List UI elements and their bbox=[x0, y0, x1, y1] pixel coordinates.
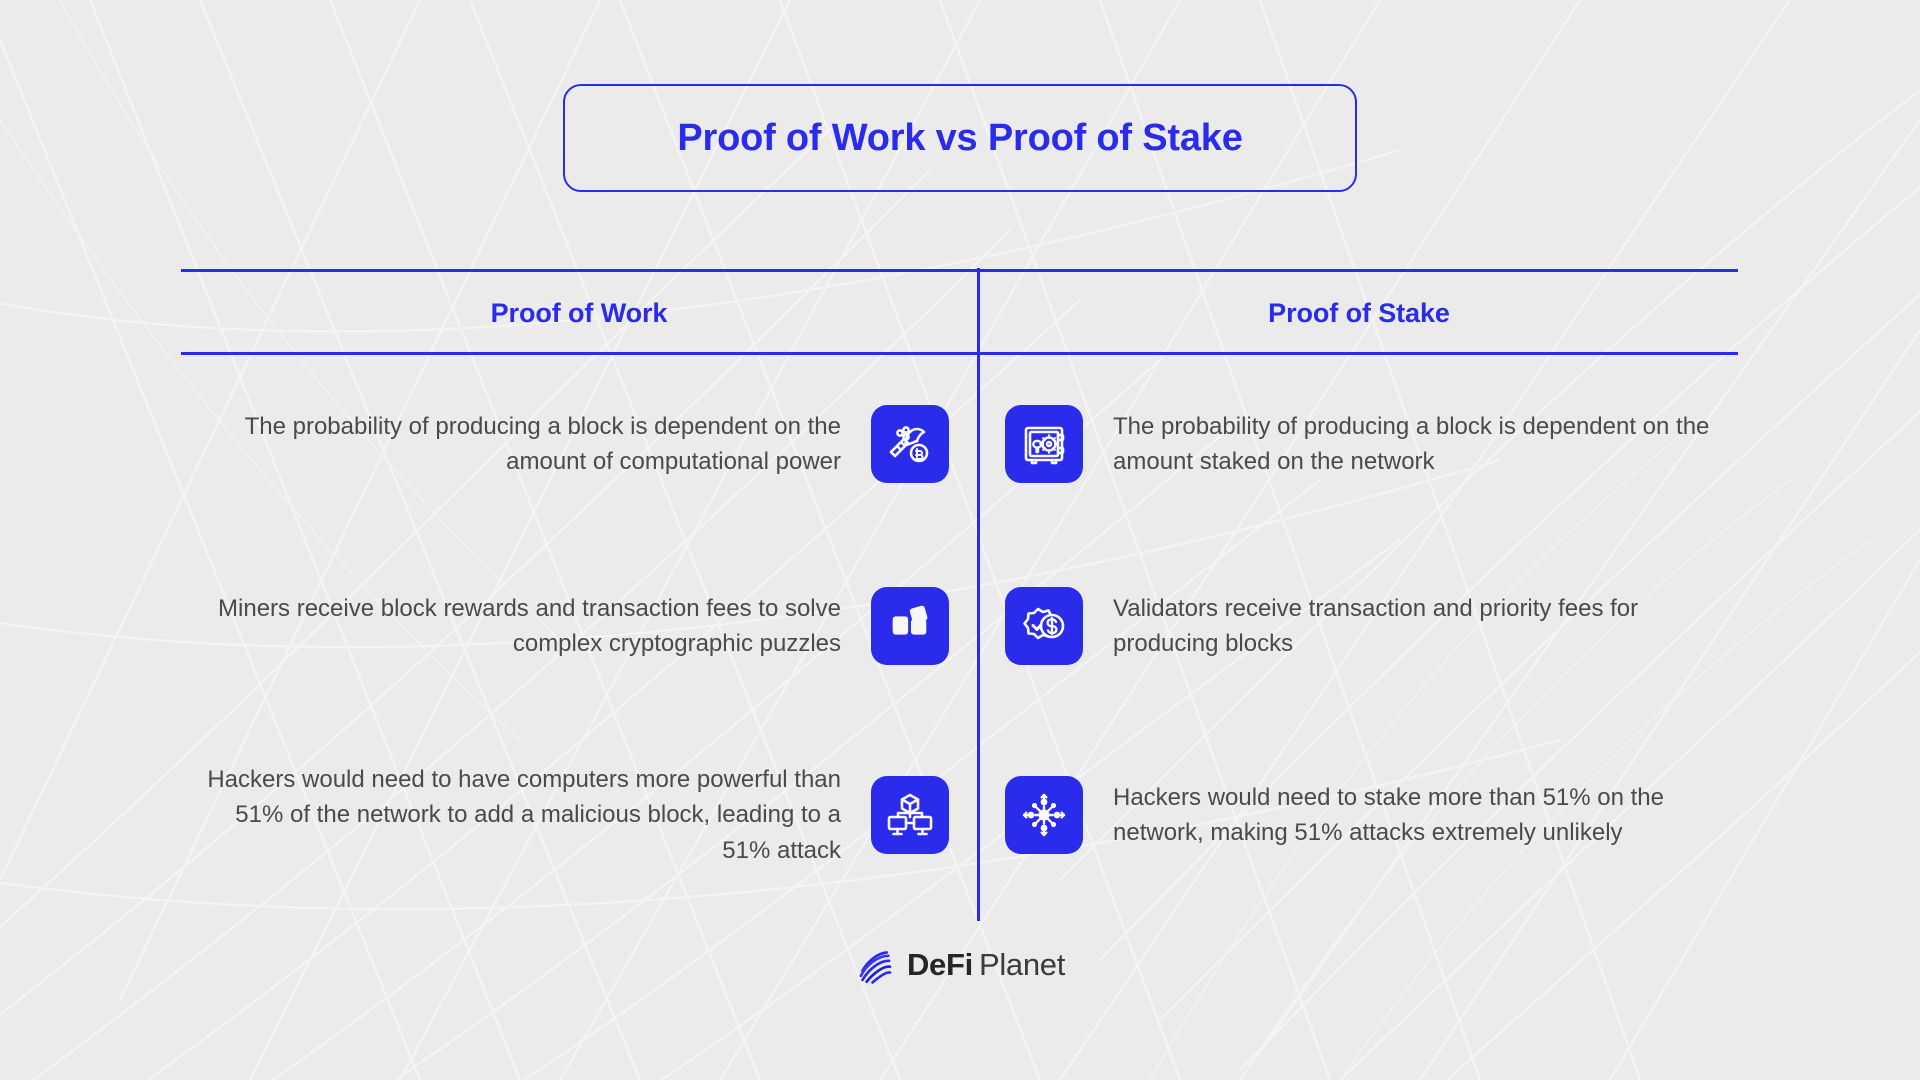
distributed-network-icon bbox=[1005, 776, 1083, 854]
row-1-right-cell: Validators receive transaction and prior… bbox=[977, 587, 1735, 665]
row-0-right-text: The probability of producing a block is … bbox=[1113, 409, 1735, 480]
table-row: The probability of producing a block is … bbox=[181, 382, 1738, 506]
verified-badge-dollar-icon bbox=[1005, 587, 1083, 665]
table-header-rule bbox=[181, 352, 1738, 355]
row-2-left-text: Hackers would need to have computers mor… bbox=[181, 762, 841, 868]
row-2-right-cell: Hackers would need to stake more than 51… bbox=[977, 776, 1735, 854]
row-2-left-cell: Hackers would need to have computers mor… bbox=[181, 762, 977, 868]
defi-planet-globe-icon bbox=[855, 945, 895, 985]
column-header-proof-of-work: Proof of Work bbox=[181, 285, 977, 341]
infographic-canvas: Proof of Work vs Proof of Stake Proof of… bbox=[0, 0, 1920, 1080]
brand-name-bold: DeFi bbox=[907, 947, 973, 982]
row-1-right-text: Validators receive transaction and prior… bbox=[1113, 591, 1735, 662]
table-row: Hackers would need to have computers mor… bbox=[181, 745, 1738, 885]
row-0-left-cell: The probability of producing a block is … bbox=[181, 405, 977, 483]
page-title: Proof of Work vs Proof of Stake bbox=[677, 117, 1242, 160]
puzzle-blocks-icon bbox=[871, 587, 949, 665]
row-0-right-cell: The probability of producing a block is … bbox=[977, 405, 1735, 483]
row-2-right-text: Hackers would need to stake more than 51… bbox=[1113, 780, 1733, 851]
brand-logo: DeFiPlanet bbox=[0, 945, 1920, 985]
brand-wordmark: DeFiPlanet bbox=[907, 947, 1065, 983]
title-box: Proof of Work vs Proof of Stake bbox=[563, 84, 1357, 192]
column-header-proof-of-stake: Proof of Stake bbox=[980, 285, 1738, 341]
row-0-left-text: The probability of producing a block is … bbox=[181, 409, 841, 480]
row-1-left-cell: Miners receive block rewards and transac… bbox=[181, 587, 977, 665]
safe-vault-icon bbox=[1005, 405, 1083, 483]
pickaxe-bitcoin-icon bbox=[871, 405, 949, 483]
table-top-rule bbox=[181, 269, 1738, 272]
blockchain-computers-icon bbox=[871, 776, 949, 854]
table-row: Miners receive block rewards and transac… bbox=[181, 564, 1738, 688]
row-1-left-text: Miners receive block rewards and transac… bbox=[181, 591, 841, 662]
brand-name-light: Planet bbox=[979, 947, 1065, 982]
